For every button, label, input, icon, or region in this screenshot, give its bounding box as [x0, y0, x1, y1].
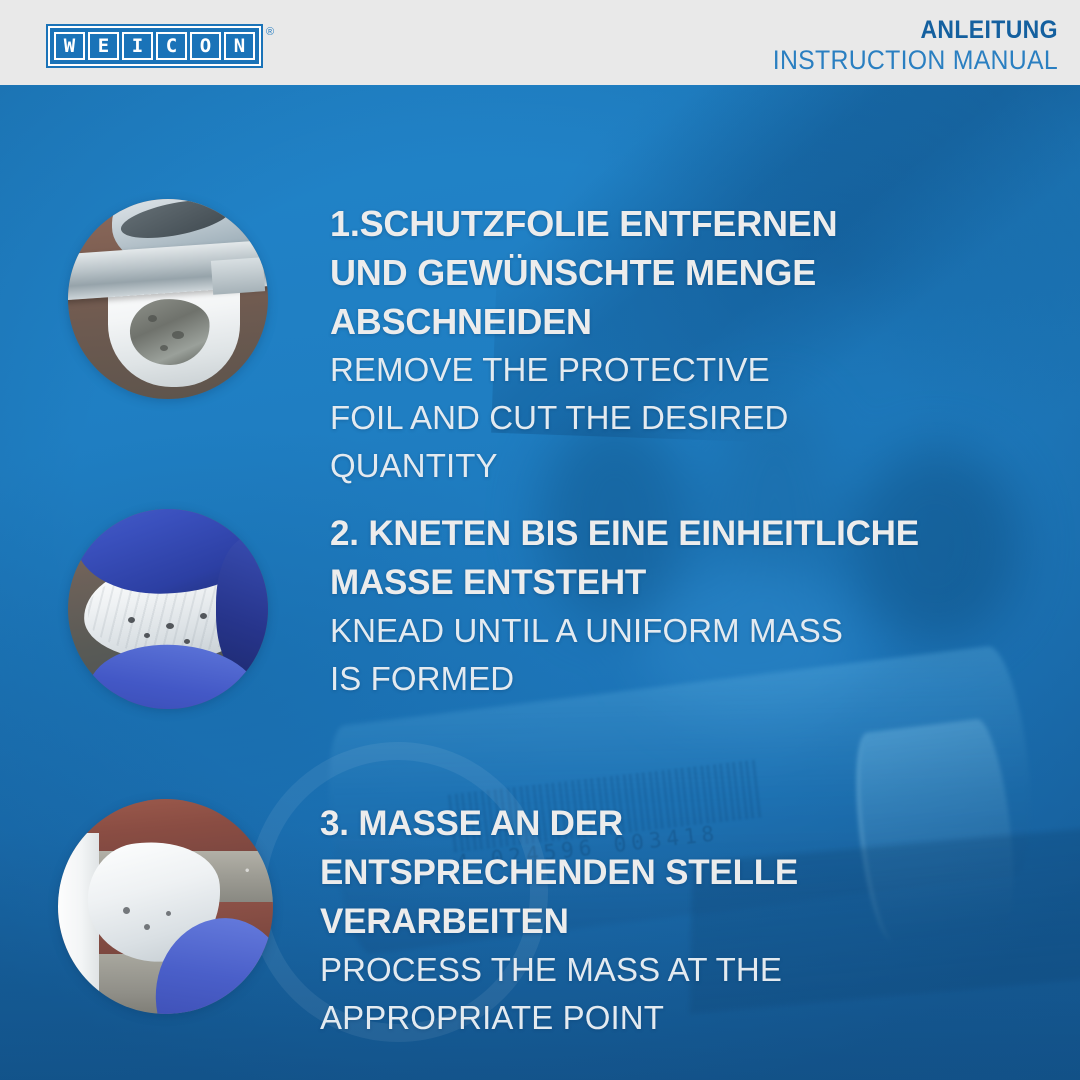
step-1-heading-line-1: 1.SCHUTZFOLIE ENTFERNEN [330, 199, 837, 248]
step-2-image [68, 509, 268, 709]
step-1-image [68, 199, 268, 399]
step-2-heading-line-2: MASSE ENTSTEHT [330, 558, 919, 607]
instruction-manual-page: 4 024596 003418 W E I C O N ® ANLEITUNG … [0, 0, 1080, 1080]
step-1-text: 1.SCHUTZFOLIE ENTFERNEN UND GEWÜNSCHTE M… [330, 199, 837, 490]
step-1-subtext-line-3: QUANTITY [330, 442, 837, 490]
registered-trademark-icon: ® [266, 27, 274, 38]
step-2-subtext-line-2: IS FORMED [330, 655, 919, 703]
header-title-english: INSTRUCTION MANUAL [773, 44, 1058, 76]
step-3-subtext-line-1: PROCESS THE MASS AT THE [320, 946, 798, 994]
step-3: 3. MASSE AN DER ENTSPRECHENDEN STELLE VE… [0, 799, 798, 1042]
logo-letter-c: C [156, 32, 187, 60]
step-3-heading-line-3: VERARBEITEN [320, 897, 798, 946]
logo-letter-e: E [88, 32, 119, 60]
step-3-subtext-line-2: APPROPRIATE POINT [320, 994, 798, 1042]
header-titles: ANLEITUNG INSTRUCTION MANUAL [748, 16, 1058, 76]
step-3-heading-line-1: 3. MASSE AN DER [320, 799, 798, 848]
step-3-heading-line-2: ENTSPRECHENDEN STELLE [320, 848, 798, 897]
step-3-subtext: PROCESS THE MASS AT THE APPROPRIATE POIN… [320, 946, 798, 1042]
step-1-heading-line-2: UND GEWÜNSCHTE MENGE [330, 248, 837, 297]
logo-letter-w: W [54, 32, 85, 60]
weicon-logo[interactable]: W E I C O N ® [48, 26, 274, 66]
step-3-heading: 3. MASSE AN DER ENTSPRECHENDEN STELLE VE… [320, 799, 798, 946]
step-2: 2. KNETEN BIS EINE EINHEITLICHE MASSE EN… [0, 509, 919, 709]
step-2-text: 2. KNETEN BIS EINE EINHEITLICHE MASSE EN… [330, 509, 919, 703]
step-2-heading: 2. KNETEN BIS EINE EINHEITLICHE MASSE EN… [330, 509, 919, 607]
step-1-heading: 1.SCHUTZFOLIE ENTFERNEN UND GEWÜNSCHTE M… [330, 199, 837, 346]
header-title-german: ANLEITUNG [773, 16, 1058, 44]
step-2-subtext: KNEAD UNTIL A UNIFORM MASS IS FORMED [330, 607, 919, 703]
step-1-heading-line-3: ABSCHNEIDEN [330, 297, 837, 346]
header-bar: W E I C O N ® ANLEITUNG INSTRUCTION MANU… [0, 0, 1080, 85]
step-1-subtext: REMOVE THE PROTECTIVE FOIL AND CUT THE D… [330, 346, 837, 490]
step-2-subtext-line-1: KNEAD UNTIL A UNIFORM MASS [330, 607, 919, 655]
logo-letter-i: I [122, 32, 153, 60]
logo-letter-o: O [190, 32, 221, 60]
step-2-heading-line-1: 2. KNETEN BIS EINE EINHEITLICHE [330, 509, 919, 558]
step-1: 1.SCHUTZFOLIE ENTFERNEN UND GEWÜNSCHTE M… [0, 199, 837, 490]
logo-letter-n: N [224, 32, 255, 60]
step-1-subtext-line-1: REMOVE THE PROTECTIVE [330, 346, 837, 394]
step-1-subtext-line-2: FOIL AND CUT THE DESIRED [330, 394, 837, 442]
step-3-text: 3. MASSE AN DER ENTSPRECHENDEN STELLE VE… [320, 799, 798, 1042]
logo-letter-boxes: W E I C O N [48, 26, 261, 66]
step-3-image [58, 799, 273, 1014]
